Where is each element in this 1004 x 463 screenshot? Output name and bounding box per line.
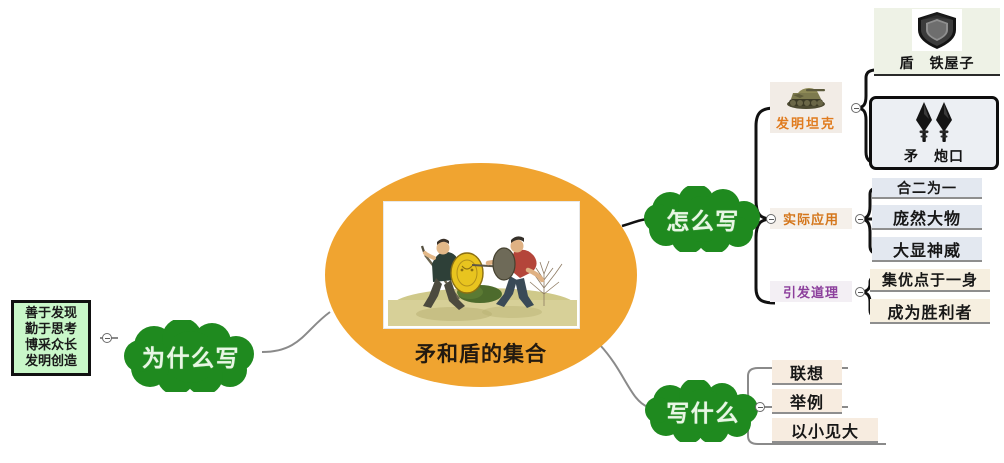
leaf-invent-tank[interactable]: 发明坦克 — [770, 82, 842, 133]
collapse-handle-derived-principle[interactable] — [855, 287, 865, 297]
leaf-label-spear-gun-barrel: 矛 炮口 — [904, 146, 964, 166]
why-detail-box[interactable]: 善于发现 勤于思考 博采众长 发明创造 — [11, 300, 91, 376]
leaf-colossus[interactable]: 庞然大物 — [872, 205, 982, 230]
leaf-combine-two-into-one[interactable]: 合二为一 — [872, 178, 982, 199]
branch-label-why: 为什么写 — [142, 339, 240, 373]
collapse-handle-invent-tank[interactable] — [851, 103, 861, 113]
branch-node-what[interactable]: 写什么 — [640, 380, 766, 442]
leaf-example[interactable]: 举例 — [772, 389, 842, 414]
why-detail-line-4: 发明创造 — [25, 354, 77, 370]
why-detail-line-2: 勤于思考 — [25, 322, 77, 338]
leaf-label-shield-iron-house: 盾 铁屋子 — [900, 53, 975, 73]
tank-icon — [784, 83, 828, 111]
collapse-handle-what[interactable] — [755, 402, 765, 412]
leaf-great-might[interactable]: 大显神威 — [872, 237, 982, 262]
central-topic[interactable]: 矛和盾的集合 — [325, 163, 637, 387]
collapse-handle-why[interactable] — [102, 333, 112, 343]
leaf-spear-gun-barrel[interactable]: 矛 炮口 — [869, 96, 999, 170]
why-detail-line-3: 博采众长 — [25, 338, 77, 354]
leaf-see-big-from-small[interactable]: 以小见大 — [772, 418, 878, 443]
leaf-label-invent-tank: 发明坦克 — [776, 113, 836, 132]
mindmap-canvas: 矛和盾的集合 善于发现 勤于思考 博采众长 发明创造 为什么写 — [0, 0, 1004, 463]
leaf-shield-iron-house[interactable]: 盾 铁屋子 — [874, 8, 1000, 76]
branch-label-how: 怎么写 — [666, 202, 740, 236]
spear-and-shield-duel-illustration — [383, 201, 580, 329]
leaf-practical-application[interactable]: 实际应用 — [770, 208, 852, 229]
spear-head-icon — [906, 100, 962, 144]
collapse-handle-practical-application[interactable] — [855, 214, 865, 224]
collapse-handle-how[interactable] — [766, 214, 776, 224]
leaf-derived-principle[interactable]: 引发道理 — [770, 281, 852, 302]
branch-node-why[interactable]: 为什么写 — [118, 320, 264, 392]
leaf-association[interactable]: 联想 — [772, 360, 842, 385]
why-detail-line-1: 善于发现 — [25, 306, 77, 322]
branch-node-how[interactable]: 怎么写 — [640, 186, 766, 252]
leaf-combine-all-merits[interactable]: 集优点于一身 — [870, 269, 990, 292]
shield-icon — [912, 9, 962, 51]
branch-label-what: 写什么 — [666, 394, 740, 428]
page-title: 矛和盾的集合 — [415, 338, 547, 368]
leaf-become-the-winner[interactable]: 成为胜利者 — [870, 299, 990, 324]
